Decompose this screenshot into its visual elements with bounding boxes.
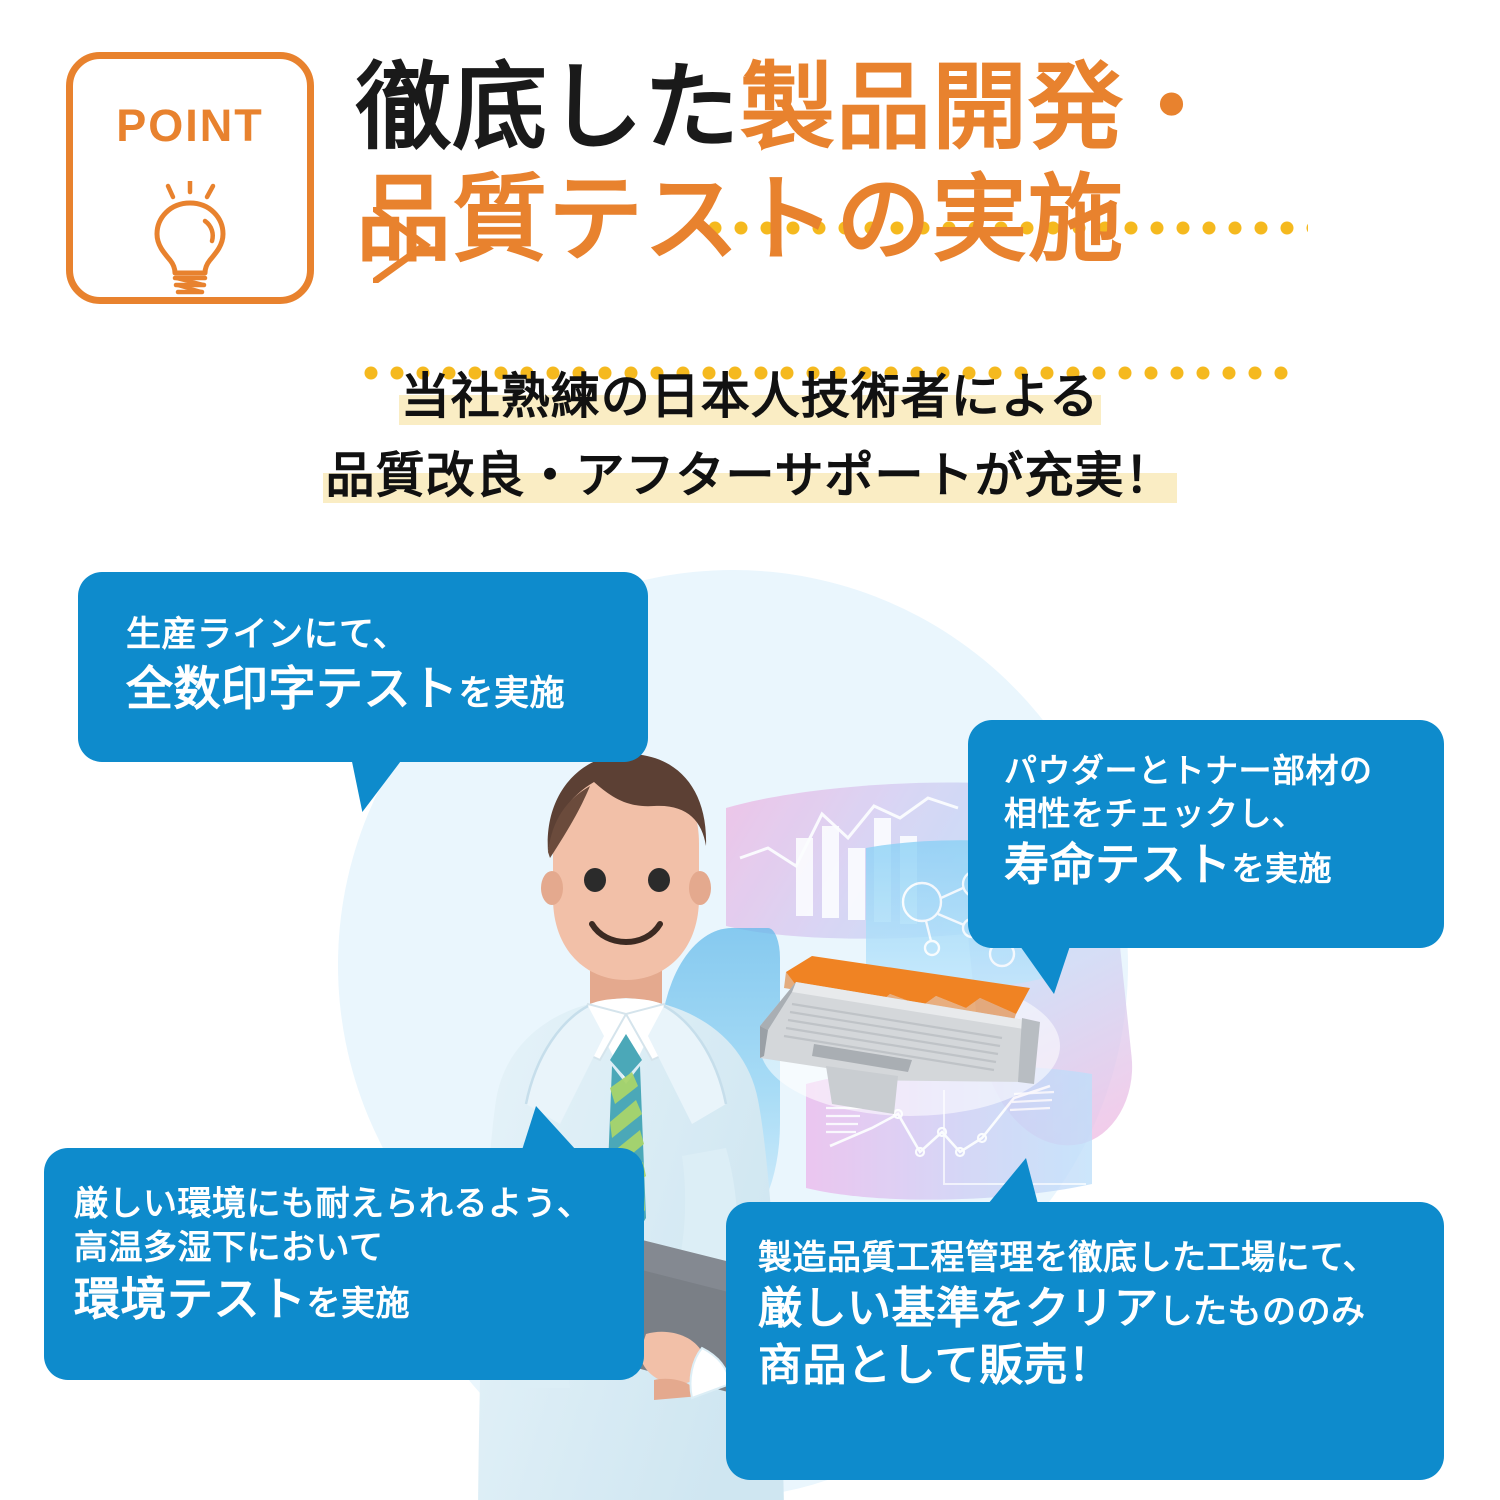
bubble-production-line-test[interactable]: 生産ラインにて、 全数印字テストを実施 xyxy=(78,572,648,762)
bubble-2-emphasis-tail: を実施 xyxy=(1232,850,1333,887)
subtitle-line-1-text: 当社熟練の日本人技術者による xyxy=(401,370,1100,424)
point-badge-label: POINT xyxy=(73,103,307,148)
bubble-2-emphasis-line: 寿命テストを実施 xyxy=(1004,836,1444,895)
lightbulb-icon xyxy=(135,181,245,302)
bubble-1-tail xyxy=(344,760,401,812)
headline-line-1: 徹底した製品開発・ xyxy=(356,52,1326,164)
bubble-2-tail xyxy=(1020,946,1070,994)
illustration-stage: 生産ラインにて、 全数印字テストを実施 パウダーとトナー部材の 相性をチェックし… xyxy=(0,548,1500,1500)
subtitle: 当社熟練の日本人技術者による 品質改良・アフターサポートが充実！ xyxy=(0,364,1500,509)
point-badge: POINT xyxy=(66,52,314,304)
bubble-lifespan-test[interactable]: パウダーとトナー部材の 相性をチェックし、 寿命テストを実施 xyxy=(968,720,1444,948)
bubble-4-emphasis: 厳しい基準をクリア xyxy=(758,1284,1159,1333)
subtitle-line-2: 品質改良・アフターサポートが充実！ xyxy=(323,443,1176,510)
subtitle-line-1: 当社熟練の日本人技術者による xyxy=(399,364,1102,431)
bubble-1-emphasis-tail: を実施 xyxy=(459,674,566,713)
bubble-3-emphasis: 環境テスト xyxy=(74,1273,307,1325)
bubble-3-emphasis-line: 環境テストを実施 xyxy=(74,1270,644,1330)
bubble-3-line-2: 高温多湿下において xyxy=(74,1226,644,1270)
bubble-3-line-1: 厳しい環境にも耐えられるよう、 xyxy=(74,1182,644,1226)
bubble-1-emphasis-line: 全数印字テストを実施 xyxy=(126,658,604,719)
bubble-2-line-1: パウダーとトナー部材の xyxy=(1004,750,1444,793)
bubble-3-tail xyxy=(522,1106,576,1150)
bubble-4-line-3: 商品として販売！ xyxy=(758,1337,1444,1394)
headline-line-2: 品質テストの実施 xyxy=(356,164,1326,276)
bubble-2-line-2: 相性をチェックし、 xyxy=(1004,793,1444,836)
bubble-4-tail xyxy=(988,1158,1038,1204)
bubble-environment-test[interactable]: 厳しい環境にも耐えられるよう、 高温多湿下において 環境テストを実施 xyxy=(44,1148,644,1380)
bubble-2-emphasis: 寿命テスト xyxy=(1004,839,1232,890)
bubble-4-emphasis-tail: したもののみ xyxy=(1159,1293,1366,1331)
infographic-page: POINT xyxy=(0,0,1500,1500)
headline: 徹底した製品開発・ 品質テストの実施 xyxy=(356,52,1326,276)
subtitle-line-2-text: 品質改良・アフターサポートが充実！ xyxy=(325,449,1174,503)
bubble-1-line-1: 生産ラインにて、 xyxy=(126,612,604,658)
bubble-4-line-1: 製造品質工程管理を徹底した工場にて、 xyxy=(758,1236,1444,1280)
bubble-3-emphasis-tail: を実施 xyxy=(307,1285,411,1323)
headline-line-1-orange: 製品開発・ xyxy=(740,55,1220,161)
bubble-4-emphasis-line: 厳しい基準をクリアしたもののみ xyxy=(758,1280,1444,1337)
headline-line-1-black: 徹底した xyxy=(356,55,740,161)
bubble-factory-quality-control[interactable]: 製造品質工程管理を徹底した工場にて、 厳しい基準をクリアしたもののみ 商品として… xyxy=(726,1202,1444,1480)
bubble-1-emphasis: 全数印字テスト xyxy=(126,662,459,715)
headline-line-2-orange: 品質テストの実施 xyxy=(356,167,1124,273)
